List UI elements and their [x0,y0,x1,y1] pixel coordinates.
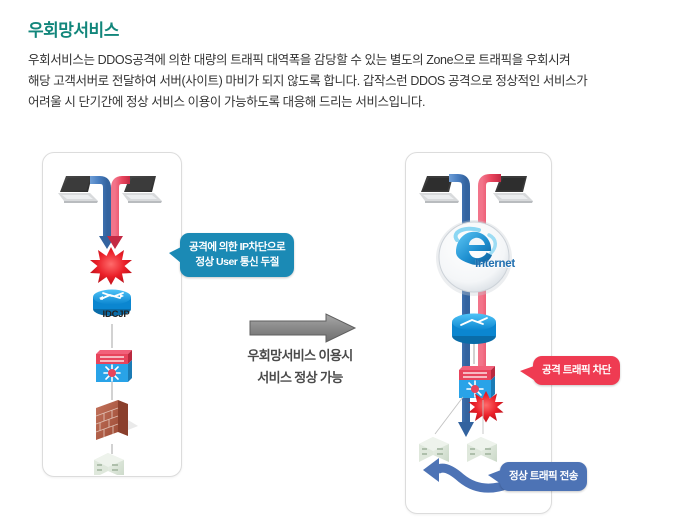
callout-attack-traffic-block: 공격 트래픽 차단 [533,356,620,385]
center-caption-line-2: 서비스 정상 가능 [215,367,385,389]
explosion-icon [90,247,132,285]
right-panel-graphics [405,152,550,512]
callout-line-2: 정상 User 통신 두절 [189,255,285,270]
server-icon [94,453,124,475]
intro-line-1: 우회서비스는 DDOS공격에 의한 대량의 트래픽 대역폭을 감당할 수 있는 … [28,50,648,71]
server-icon [467,437,497,462]
switch-icon [96,350,132,382]
callout-tail [169,247,181,263]
server-icon [419,437,449,462]
blue-traffic-arrow [449,178,474,437]
internet-globe-label: Internet [458,258,532,270]
center-caption: 우회망서비스 이용시 서비스 정상 가능 [215,345,385,389]
right-arrow-icon [248,313,358,349]
switch-icon [459,366,495,398]
page-title: 우회망서비스 [28,16,119,41]
callout-tail [520,366,534,380]
router-icon [452,314,496,345]
intro-line-3: 어려울 시 단기간에 정상 서비스 이용이 가능하도록 대응해 드리는 서비스입… [28,92,648,113]
callout-text: 정상 트래픽 전송 [509,469,578,484]
intro-paragraph: 우회서비스는 DDOS공격에 의한 대량의 트래픽 대역폭을 감당할 수 있는 … [28,50,648,113]
device-label-idcjp: IDCJP [88,309,144,320]
intro-line-2: 해당 고객서버로 전달하여 서버(사이트) 마비가 되지 않도록 합니다. 갑작… [28,71,648,92]
callout-line-1: 공격에 의한 IP차단으로 [189,240,285,255]
callout-tail [488,470,501,484]
callout-normal-traffic: 정상 트래픽 전송 [500,462,587,491]
firewall-icon [96,400,138,440]
callout-text: 공격 트래픽 차단 [542,363,611,378]
callout-attack-ip-block: 공격에 의한 IP차단으로 정상 User 통신 두절 [180,233,294,277]
center-caption-line-1: 우회망서비스 이용시 [215,345,385,367]
